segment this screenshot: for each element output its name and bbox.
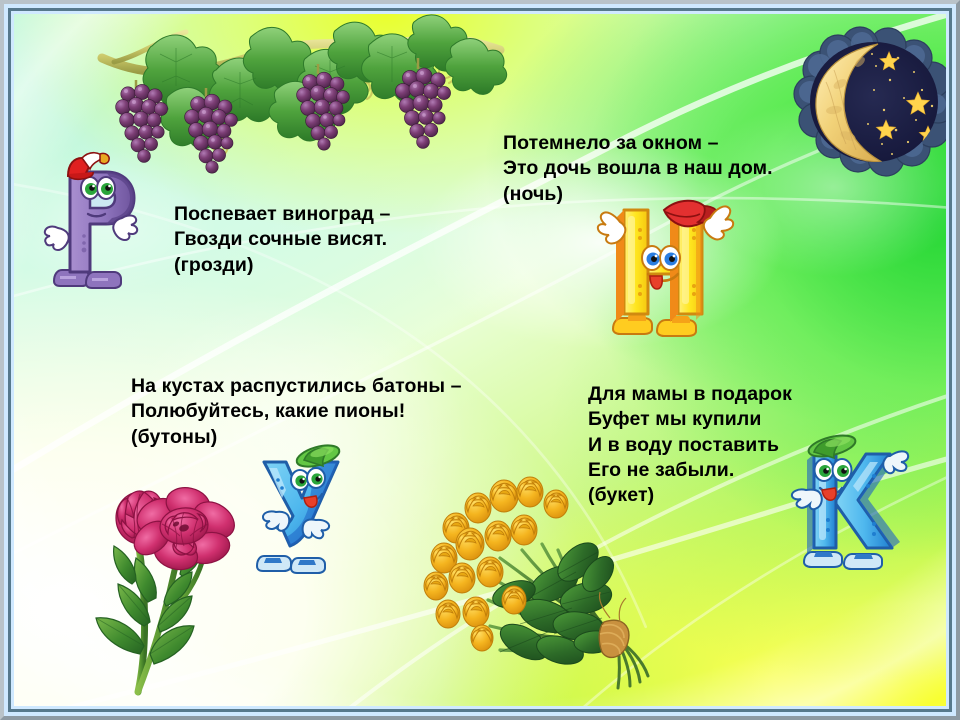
slide-inner-border: Поспевает виноград – Гвозди сочные висят… (8, 8, 952, 712)
grape-vine-illustration (100, 18, 502, 178)
night-moon-illustration (786, 26, 946, 178)
cartoon-letter-u (252, 438, 356, 580)
slide-canvas: Поспевает виноград – Гвозди сочные висят… (14, 14, 946, 706)
riddle-text-grapes: Поспевает виноград – Гвозди сочные висят… (174, 202, 390, 278)
cartoon-letter-n (606, 186, 732, 346)
peony-flowers-illustration (74, 466, 264, 692)
slide: Поспевает виноград – Гвозди сочные висят… (0, 0, 960, 720)
riddle-text-bouquet: Для мамы в подарок Буфет мы купили И в в… (588, 382, 792, 509)
riddle-text-night: Потемнело за окном – Это дочь вошла в на… (503, 131, 773, 207)
cartoon-letter-k (790, 428, 914, 578)
riddle-text-buds: На кустах распустились батоны – Полюбуйт… (131, 374, 462, 450)
cartoon-letter-r (44, 144, 152, 296)
